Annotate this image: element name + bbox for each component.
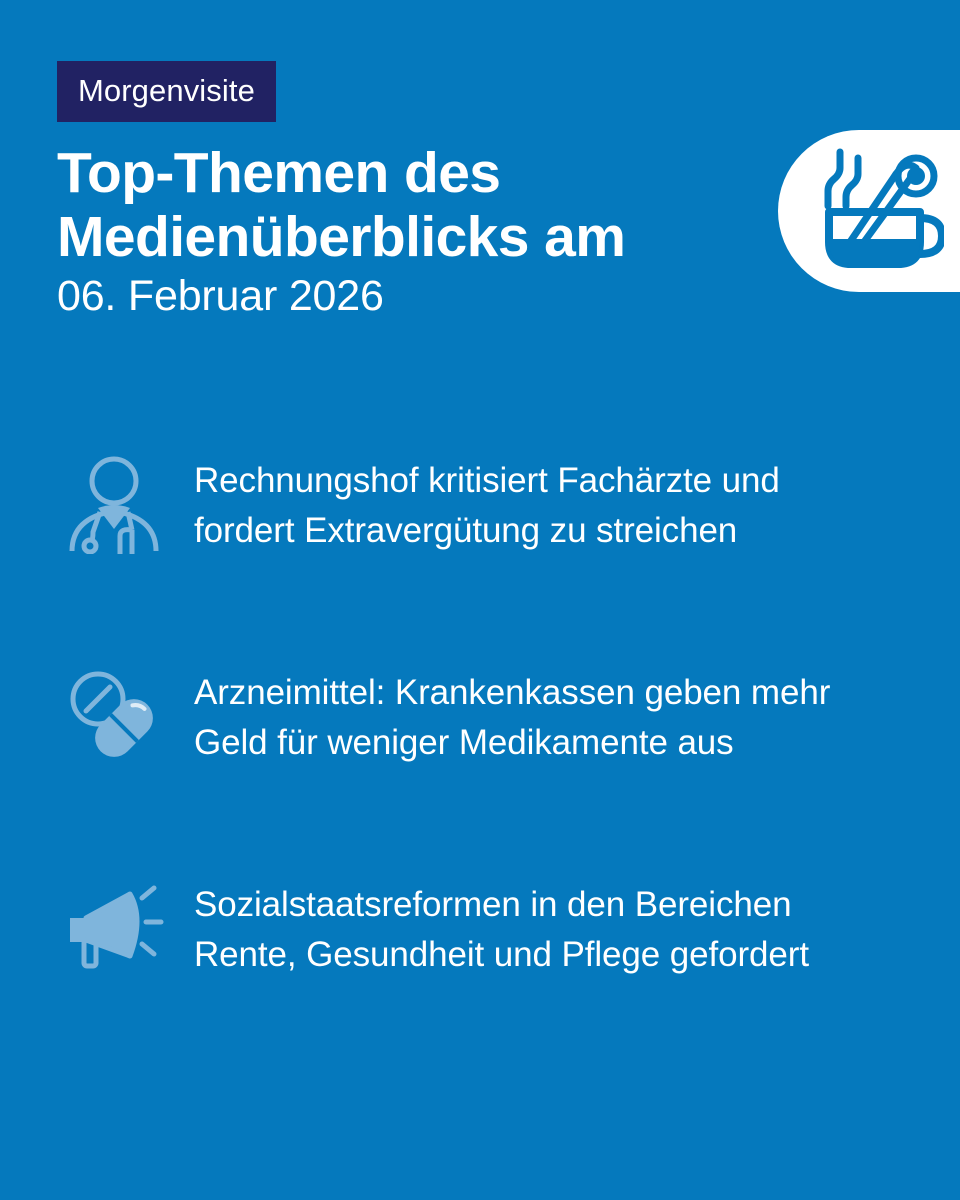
page-date: 06. Februar 2026 [57, 272, 757, 321]
coffee-cup-stethoscope-icon [816, 146, 944, 276]
kicker-badge: Morgenvisite [57, 61, 276, 122]
header: Morgenvisite Top-Themen des Medienüberbl… [57, 61, 757, 321]
list-item[interactable]: Rechnungshof kritisiert Fachärzte und fo… [0, 432, 960, 644]
list-item-headline: Rechnungshof kritisiert Fachärzte und fo… [194, 456, 884, 555]
morgenvisite-card: Morgenvisite Top-Themen des Medienüberbl… [0, 0, 960, 1200]
doctor-stethoscope-icon [62, 454, 166, 554]
list-item-headline: Arzneimittel: Krankenkassen geben mehr G… [194, 668, 884, 767]
list-item[interactable]: Sozialstaatsreformen in den Bereichen Re… [0, 856, 960, 1068]
list-item[interactable]: Arzneimittel: Krankenkassen geben mehr G… [0, 644, 960, 856]
page-title: Top-Themen des Medienüberblicks am [57, 142, 737, 270]
list-item-headline: Sozialstaatsreformen in den Bereichen Re… [194, 880, 884, 979]
topic-list: Rechnungshof kritisiert Fachärzte und fo… [0, 432, 960, 1068]
pills-capsule-icon [62, 666, 166, 766]
brand-pill [778, 130, 960, 292]
megaphone-icon [62, 878, 166, 978]
